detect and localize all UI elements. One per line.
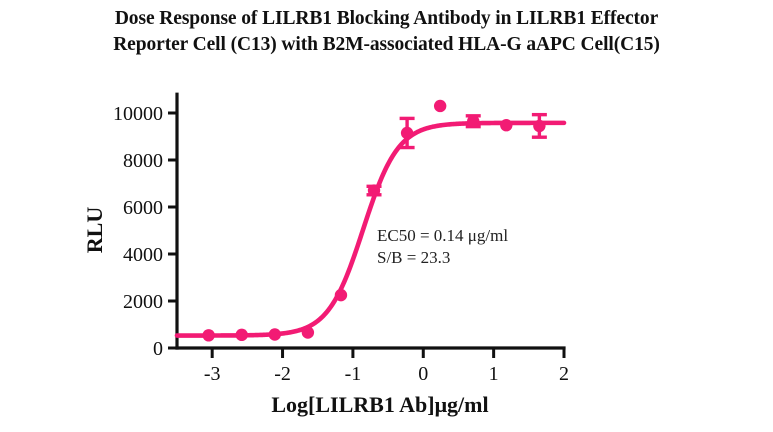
y-axis-tick-label: 8000 bbox=[123, 150, 163, 172]
data-point bbox=[434, 100, 446, 112]
plot-area: 0200040006000800010000-3-2-1012 RLU Log[… bbox=[0, 0, 773, 432]
y-axis-tick-label: 2000 bbox=[123, 291, 163, 313]
data-point bbox=[335, 289, 347, 301]
y-axis-title: RLU bbox=[82, 207, 107, 254]
y-axis-tick-label: 4000 bbox=[123, 244, 163, 266]
x-axis-tick-label: -2 bbox=[274, 363, 291, 385]
data-point bbox=[500, 119, 512, 131]
data-point bbox=[302, 326, 314, 338]
data-point bbox=[269, 328, 281, 340]
x-axis-tick-label: 1 bbox=[489, 363, 499, 385]
data-point bbox=[202, 329, 214, 341]
data-points-layer bbox=[202, 100, 545, 342]
x-axis-tick-label: -3 bbox=[204, 363, 221, 385]
data-point bbox=[401, 127, 413, 139]
data-point bbox=[467, 115, 479, 127]
x-axis-tick-label: 0 bbox=[418, 363, 428, 385]
sb-annotation: S/B = 23.3 bbox=[377, 248, 450, 267]
x-axis-title: Log[LILRB1 Ab]μg/ml bbox=[271, 392, 488, 417]
y-axis-tick-label: 6000 bbox=[123, 197, 163, 219]
chart-figure: Dose Response of LILRB1 Blocking Antibod… bbox=[0, 0, 773, 432]
data-point bbox=[368, 184, 380, 196]
x-axis-tick-label: -1 bbox=[345, 363, 362, 385]
data-point bbox=[533, 120, 545, 132]
y-axis-tick-label: 10000 bbox=[113, 103, 163, 125]
y-axis-tick-label: 0 bbox=[153, 338, 163, 360]
x-axis-tick-label: 2 bbox=[559, 363, 569, 385]
data-point bbox=[236, 329, 248, 341]
ec50-annotation: EC50 = 0.14 μg/ml bbox=[377, 226, 508, 245]
